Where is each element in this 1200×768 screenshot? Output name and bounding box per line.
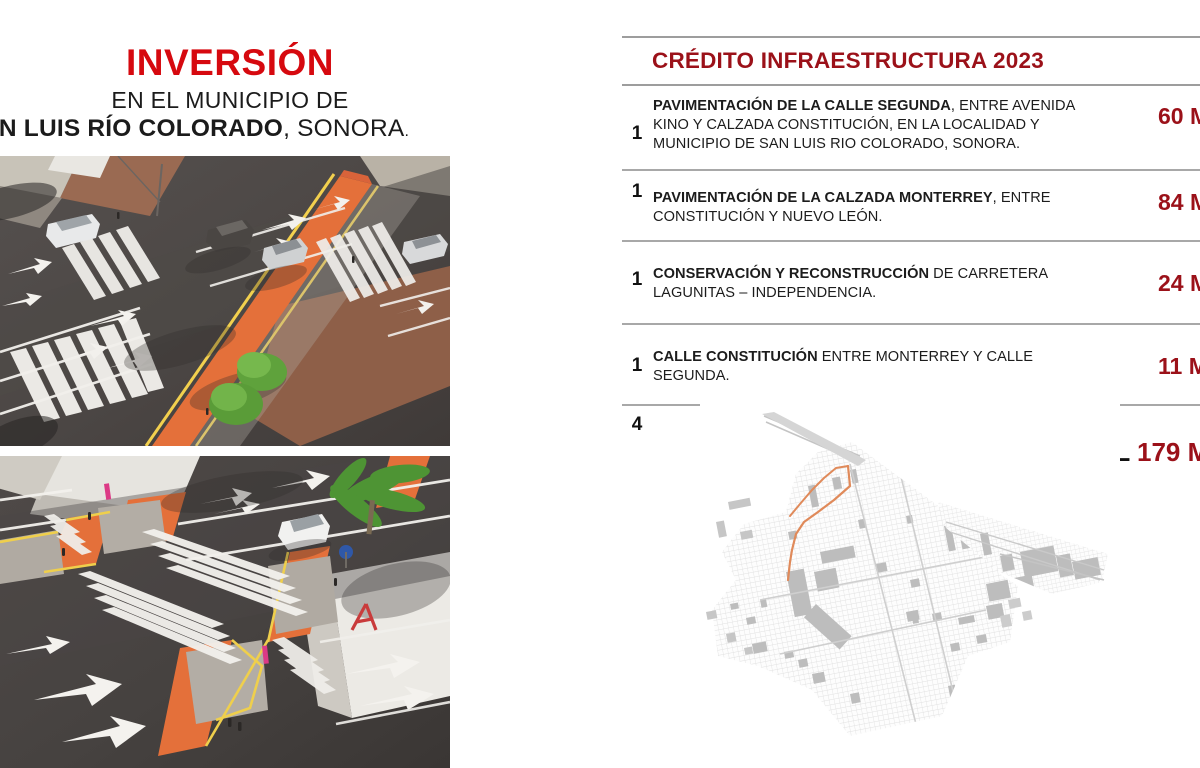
row-description-bold: PAVIMENTACIÓN DE LA CALLE SEGUNDA [653,98,951,114]
row-amount: 84 M [1158,189,1200,216]
table-rule-header-bottom [622,84,1200,86]
table-rule-1 [622,169,1200,171]
page-subtitle-line1: EN EL MUNICIPIO DE [0,87,460,113]
row-description-bold: CALLE CONSTITUCIÓN [653,349,818,365]
row-amount: 60 M [1158,103,1200,130]
city-map-illustration [700,404,1120,744]
row-description-bold: PAVIMENTACIÓN DE LA CALZADA MONTERREY [653,190,993,206]
street-intersection-render-top-illustration [0,156,450,446]
page-subtitle-line2: N LUIS RÍO COLORADO, SONORA. [0,115,434,143]
row-description-bold: CONSERVACIÓN Y RECONSTRUCCIÓN [653,266,929,282]
row-description: PAVIMENTACIÓN DE LA CALZADA MONTERREY, E… [653,189,1113,227]
row-amount: 24 M [1158,270,1200,297]
municipality-name: N LUIS RÍO COLORADO [0,115,283,142]
street-render-photo-bottom [0,456,450,768]
subtitle-period: . [404,123,409,140]
table-rule-3 [622,323,1200,325]
row-description: CONSERVACIÓN Y RECONSTRUCCIÓN DE CARRETE… [653,265,1113,303]
street-intersection-render-bottom-illustration [0,456,450,768]
table-rule-2 [622,240,1200,242]
row-quantity: 1 [624,181,650,203]
row-amount: 11 M [1158,353,1200,380]
total-row-count: 4 [624,414,650,436]
row-description: CALLE CONSTITUCIÓN ENTRE MONTERREY Y CAL… [653,348,1113,386]
row-description: PAVIMENTACIÓN DE LA CALLE SEGUNDA, ENTRE… [653,97,1113,154]
credit-table-panel: CRÉDITO INFRAESTRUCTURA 2023 1 PAVIMENTA… [622,0,1200,768]
row-quantity: 1 [624,123,650,145]
page-title: INVERSIÓN [0,44,460,81]
city-map [700,404,1120,744]
left-panel: INVERSIÓN EN EL MUNICIPIO DE N LUIS RÍO … [0,0,470,768]
state-name: , SONORA [283,115,404,142]
row-quantity: 1 [624,355,650,377]
title-block: INVERSIÓN EN EL MUNICIPIO DE N LUIS RÍO … [0,44,460,144]
table-title: CRÉDITO INFRAESTRUCTURA 2023 [652,48,1044,74]
total-amount: 179 M [1137,437,1200,467]
row-quantity: 1 [624,269,650,291]
table-rule-top [622,36,1200,38]
street-render-photo-top [0,156,450,446]
